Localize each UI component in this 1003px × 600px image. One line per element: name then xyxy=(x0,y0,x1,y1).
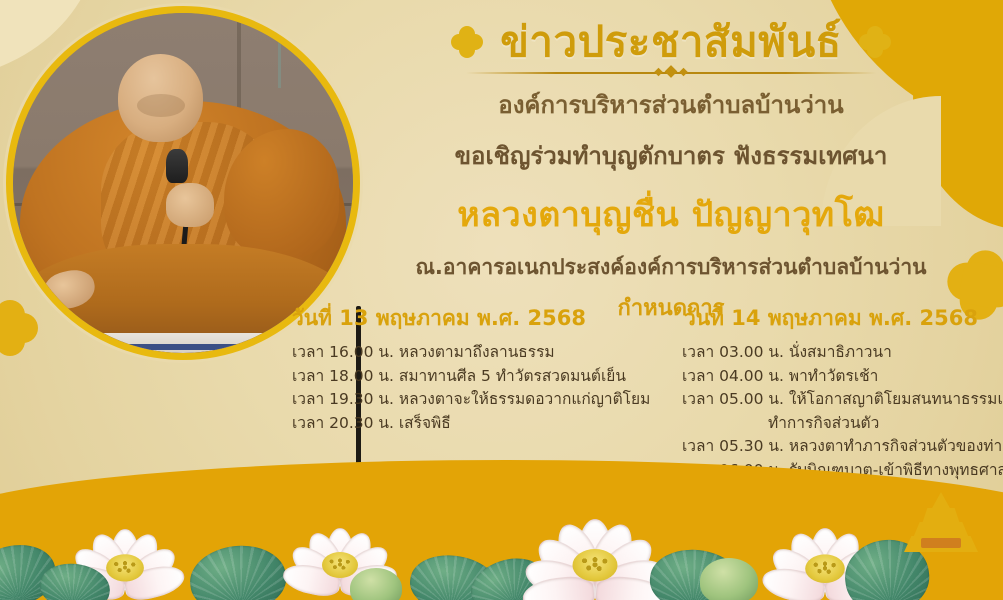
title-divider-ornament xyxy=(466,67,876,79)
schedule-item-continued: ทำการกิจส่วนตัว xyxy=(682,412,1003,436)
wall-accent xyxy=(278,13,281,88)
schedule-item: เวลา 18.00 น. สมาทานศีล 5 ทำวัตรสวดมนต์เ… xyxy=(292,365,642,389)
schedule-item: เวลา 16.00 น. หลวงตามาถึงลานธรรม xyxy=(292,341,642,365)
venue-line: ณ.อาคารอเนกประสงค์องค์การบริหารส่วนตำบลบ… xyxy=(356,251,986,284)
day1-heading: วันที่ 13 พฤษภาคม พ.ศ. 2568 xyxy=(292,302,642,335)
schedule-item: เวลา 19.30 น. หลวงตาจะให้ธรรมดอวากแก่ญาต… xyxy=(292,388,642,412)
day2-heading: วันที่ 14 พฤษภาคม พ.ศ. 2568 xyxy=(684,302,1003,335)
page-title: ข่าวประชาสัมพันธ์ xyxy=(500,18,842,65)
temple-roof-ornament-icon xyxy=(897,478,985,552)
flower-ornament-icon xyxy=(860,27,890,57)
schedule-item: เวลา 05.30 น. หลวงตาทำภารกิจส่วนตัวของท่… xyxy=(682,435,1003,459)
title-row: ข่าวประชาสัมพันธ์ xyxy=(356,18,986,65)
schedule-item: เวลา 03.00 น. นั่งสมาธิภาวนา xyxy=(682,341,1003,365)
monk-head xyxy=(118,54,203,142)
monk-name: หลวงตาบุญชื่น ปัญญาวุทโฒ xyxy=(356,187,986,241)
schedule-item: เวลา 05.00 น. ให้โอกาสญาติโยมสนทนาธรรมแล… xyxy=(682,388,1003,412)
flower-ornament-icon xyxy=(452,27,482,57)
monk-hand-right xyxy=(166,183,214,227)
lotus-flower-decor xyxy=(540,498,650,590)
schedule-item: เวลา 20.30 น. เสร็จพิธี xyxy=(292,412,642,436)
organization-name: องค์การบริหารส่วนตำบลบ้านว่าน xyxy=(356,85,986,124)
poster-header: ข่าวประชาสัมพันธ์ องค์การบริหารส่วนตำบลบ… xyxy=(356,18,986,325)
announcement-poster: ข่าวประชาสัมพันธ์ องค์การบริหารส่วนตำบลบ… xyxy=(0,0,1003,600)
seating-mat xyxy=(47,333,302,353)
microphone-icon xyxy=(166,149,188,183)
invitation-line: ขอเชิญร่วมทำบุญตักบาตร ฟังธรรมเทศนา xyxy=(356,136,986,175)
schedule-item: เวลา 04.00 น. พาทำวัตรเช้า xyxy=(682,365,1003,389)
